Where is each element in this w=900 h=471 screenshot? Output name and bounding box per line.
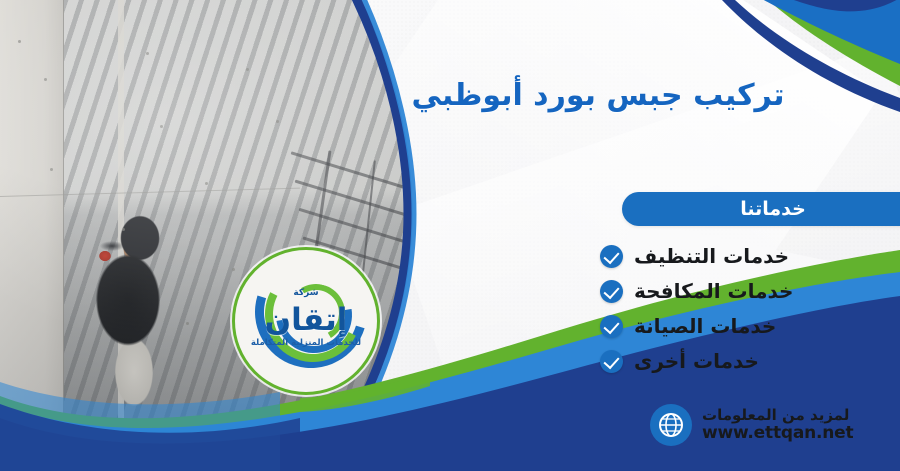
list-item: خدمات التنظيف (600, 240, 866, 272)
logo-name: إتقان (235, 302, 377, 338)
service-label: خدمات الصيانة (634, 314, 776, 338)
services-list: خدمات التنظيف خدمات المكافحة خدمات الصيا… (600, 240, 866, 377)
check-circle-icon (600, 315, 623, 338)
services-header-label: خدماتنا (740, 198, 806, 220)
list-item: خدمات المكافحة (600, 275, 866, 307)
check-circle-icon (600, 350, 623, 373)
promo-banner: شركة إتقان للخدمات المنزلية المتكاملة تر… (0, 0, 900, 471)
footer-contact: لمزيد من المعلومات www.ettqan.net (650, 398, 900, 452)
company-logo: شركة إتقان للخدمات المنزلية المتكاملة (232, 247, 380, 395)
list-item: خدمات أخرى (600, 345, 866, 377)
list-item: خدمات الصيانة (600, 310, 866, 342)
logo-top-word: شركة (235, 288, 377, 298)
service-label: خدمات أخرى (634, 349, 759, 373)
service-label: خدمات المكافحة (634, 279, 793, 303)
more-info-label: لمزيد من المعلومات (702, 407, 849, 424)
page-title: تركيب جبس بورد أبوظبي (338, 78, 858, 113)
service-label: خدمات التنظيف (634, 244, 789, 268)
logo-tagline: للخدمات المنزلية المتكاملة (235, 338, 377, 348)
check-circle-icon (600, 245, 623, 268)
website-url: www.ettqan.net (702, 424, 853, 444)
check-circle-icon (600, 280, 623, 303)
globe-icon (650, 404, 692, 446)
services-header-banner: خدماتنا (622, 192, 900, 226)
